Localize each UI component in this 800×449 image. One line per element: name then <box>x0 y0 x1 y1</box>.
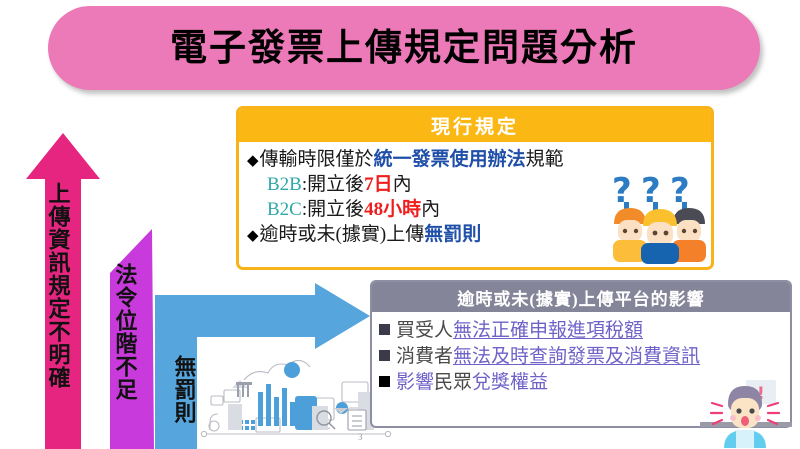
digital-economy-infographic-icon <box>196 352 396 440</box>
impact-item-1-predicate: 無法正確申報進項稅額 <box>453 320 643 341</box>
page-number: 3 <box>358 432 363 442</box>
regulation-line-1: ◆傳輸時限僅於統一發票使用辦法規範 <box>247 147 711 172</box>
impact-item-3-part-1: 影響 <box>396 372 434 393</box>
diamond-bullet-icon: ◆ <box>247 153 259 169</box>
regulation-line-1-part-3: 規範 <box>526 149 564 170</box>
regulation-line-2-part-1: 逾時或未(據實)上傳 <box>260 224 425 245</box>
slide-title-banner: 電子發票上傳規定問題分析 <box>48 6 760 90</box>
current-regulation-header-text: 現行規定 <box>431 112 519 139</box>
impact-item-2-predicate: 無法及時查詢發票及消費資訊 <box>453 346 700 367</box>
impact-item-2: 消費者無法及時查詢發票及消費資訊 <box>379 344 790 370</box>
impact-item-2-subject: 消費者 <box>396 346 453 367</box>
arrow-shape-pink <box>26 133 100 449</box>
square-bullet-icon-3 <box>379 376 390 387</box>
page-title: 電子發票上傳規定問題分析 <box>170 30 638 67</box>
b2b-label: B2B <box>267 174 302 195</box>
shocked-person-icon: ! <box>700 378 792 448</box>
confused-people-question-mark-icon: ? ? ? <box>610 172 710 264</box>
b2b-prefix: :開立後 <box>302 174 364 195</box>
impact-item-1: 買受人無法正確申報進項稅額 <box>379 318 790 344</box>
square-bullet-icon-2 <box>379 350 390 361</box>
impact-panel-header-text: 逾時或未(據實)上傳平台的影響 <box>457 285 704 310</box>
b2c-prefix: :開立後 <box>302 199 364 220</box>
diamond-bullet-icon-2: ◆ <box>247 228 259 244</box>
b2c-deadline: 48小時 <box>364 199 421 220</box>
b2c-label: B2C <box>267 199 302 220</box>
impact-item-3-part-2: 民眾 <box>434 372 472 393</box>
b2c-suffix: 內 <box>421 199 440 220</box>
arrow-shape-purple <box>94 229 154 449</box>
regulation-line-1-part-1: 傳輸時限僅於 <box>260 149 374 170</box>
current-regulation-header: 現行規定 <box>239 109 711 142</box>
regulation-line-1-law-name: 統一發票使用辦法 <box>374 149 526 170</box>
b2b-deadline: 7日 <box>364 174 393 195</box>
square-bullet-icon-1 <box>379 324 390 335</box>
impact-panel-header: 逾時或未(據實)上傳平台的影響 <box>372 282 790 312</box>
regulation-line-2-no-penalty: 無罰則 <box>424 224 481 245</box>
impact-item-1-subject: 買受人 <box>396 320 453 341</box>
impact-item-3-part-3: 兌獎權益 <box>472 372 548 393</box>
b2b-suffix: 內 <box>393 174 412 195</box>
